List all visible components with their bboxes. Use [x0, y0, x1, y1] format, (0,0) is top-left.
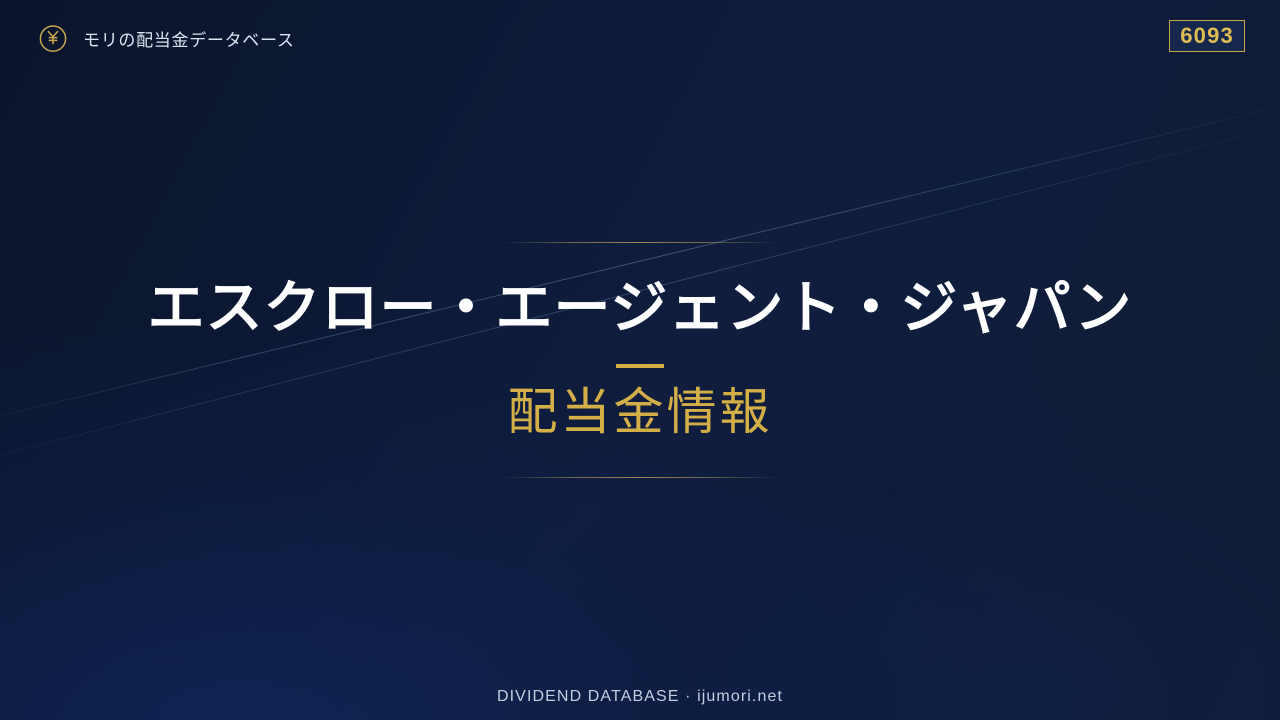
- divider-bottom: [500, 477, 780, 478]
- gold-accent-bar: [616, 364, 664, 368]
- divider-top: [500, 242, 780, 243]
- page-footer: DIVIDEND DATABASE · ijumori.net: [0, 688, 1280, 706]
- page-subtitle: 配当金情報: [508, 385, 773, 440]
- slide-root: モリの配当金データベース 6093 エスクロー・エージェント・ジャパン 配当金情…: [0, 0, 1280, 720]
- footer-text: DIVIDEND DATABASE · ijumori.net: [497, 688, 783, 705]
- title-block: エスクロー・エージェント・ジャパン 配当金情報: [0, 0, 1280, 720]
- company-name: エスクロー・エージェント・ジャパン: [148, 277, 1133, 340]
